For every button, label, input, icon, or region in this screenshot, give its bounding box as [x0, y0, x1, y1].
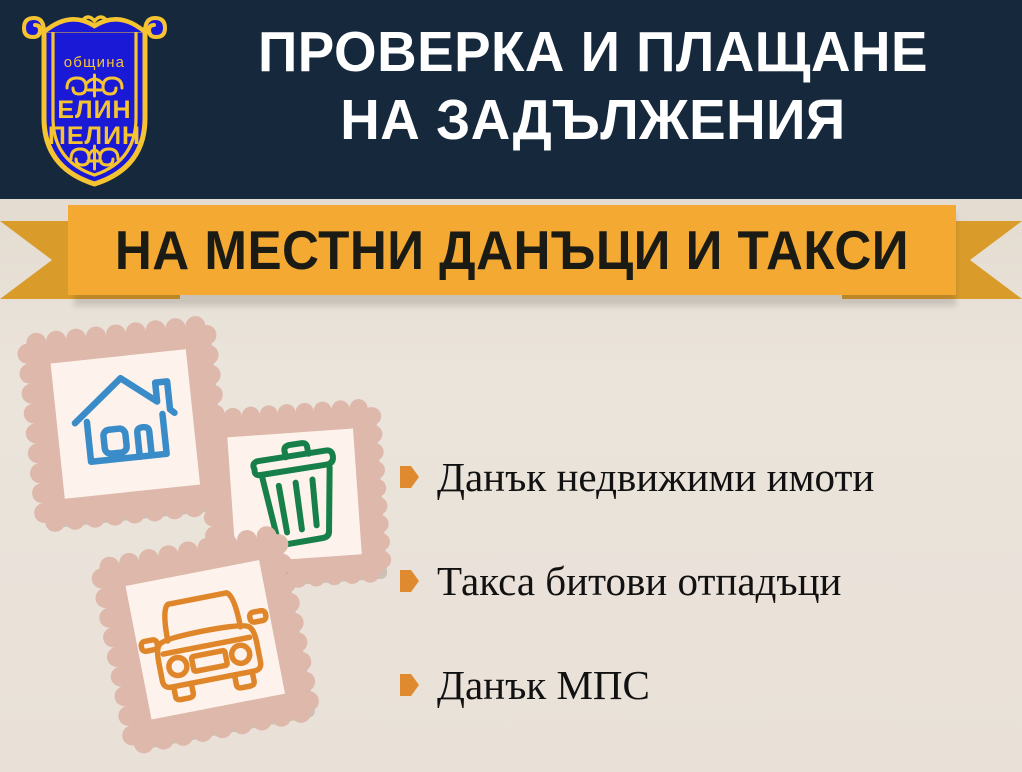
crest-name-line1: ЕЛИН	[57, 96, 131, 124]
stamp-card-vehicle-tax	[86, 528, 346, 772]
crest-svg: община ЕЛИН ПЕЛИН	[22, 8, 167, 190]
bullet-arrow-icon	[400, 570, 419, 592]
ribbon-label: НА МЕСТНИ ДАНЪЦИ И ТАКСИ	[115, 221, 909, 279]
list-item[interactable]: Данък МПС	[400, 633, 1010, 737]
crest-right-scroll	[145, 18, 165, 37]
poster-canvas: ПРОВЕРКА И ПЛАЩАНЕ НА ЗАДЪЛЖЕНИЯ община	[0, 0, 1022, 772]
list-item[interactable]: Такса битови отпадъци	[400, 529, 1010, 633]
crest-left-scroll	[24, 18, 44, 37]
list-item-label: Данък МПС	[437, 662, 650, 708]
crest-municipality-word: община	[64, 54, 125, 71]
page-title: ПРОВЕРКА И ПЛАЩАНЕ НА ЗАДЪЛЖЕНИЯ	[195, 18, 992, 154]
list-item-label: Данък недвижими имоти	[437, 454, 874, 500]
list-item[interactable]: Данък недвижими имоти	[400, 425, 1010, 529]
ribbon-banner: НА МЕСТНИ ДАНЪЦИ И ТАКСИ	[0, 197, 1022, 307]
bullet-arrow-icon	[400, 674, 419, 696]
municipality-crest-logo: община ЕЛИН ПЕЛИН	[22, 8, 167, 190]
tax-type-list: Данък недвижими имоти Такса битови отпад…	[400, 425, 1010, 737]
list-item-label: Такса битови отпадъци	[437, 558, 841, 604]
ribbon-band: НА МЕСТНИ ДАНЪЦИ И ТАКСИ	[68, 205, 956, 295]
bullet-arrow-icon	[400, 466, 419, 488]
